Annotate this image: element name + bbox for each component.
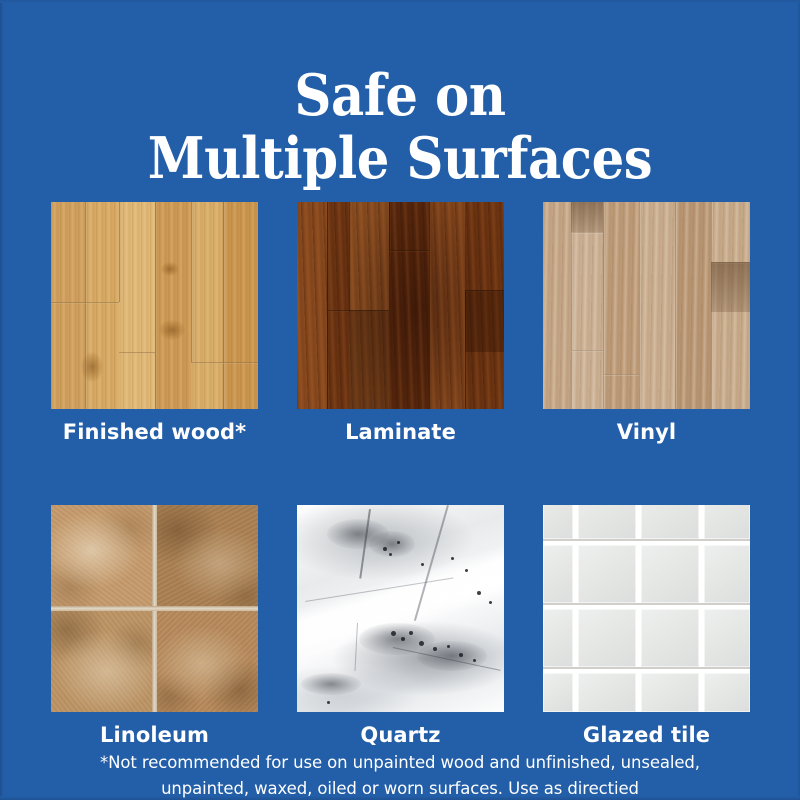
swatch-finished-wood bbox=[51, 202, 258, 409]
surface-label-glazed-tile: Glazed tile bbox=[543, 723, 750, 747]
surface-label-linoleum: Linoleum bbox=[51, 723, 258, 747]
surface-label-laminate: Laminate bbox=[297, 420, 504, 444]
edge-shade-left bbox=[0, 0, 4, 800]
footnote: *Not recommended for use on unpainted wo… bbox=[40, 750, 760, 800]
surface-card-finished-wood: Finished wood* bbox=[51, 202, 258, 444]
swatch-glazed-tile bbox=[543, 505, 750, 712]
surface-card-glazed-tile: Glazed tile bbox=[543, 505, 750, 747]
surface-grid-row: Finished wood* Laminate bbox=[51, 202, 750, 444]
surface-card-quartz: Quartz bbox=[297, 505, 504, 747]
surface-label-quartz: Quartz bbox=[297, 723, 504, 747]
surface-grid: Finished wood* Laminate bbox=[51, 202, 750, 747]
title-line-1: Safe on bbox=[40, 64, 760, 127]
swatch-laminate bbox=[297, 202, 504, 409]
surface-label-finished-wood: Finished wood* bbox=[51, 420, 258, 444]
title-line-2: Multiple Surfaces bbox=[40, 127, 760, 190]
swatch-linoleum bbox=[51, 505, 258, 712]
footnote-line-1: *Not recommended for use on unpainted wo… bbox=[40, 750, 760, 776]
edge-shade-top bbox=[0, 0, 800, 3]
swatch-quartz bbox=[297, 505, 504, 712]
surface-label-vinyl: Vinyl bbox=[543, 420, 750, 444]
page-title: Safe on Multiple Surfaces bbox=[40, 64, 760, 190]
surface-card-laminate: Laminate bbox=[297, 202, 504, 444]
surface-grid-row: Linoleum bbox=[51, 505, 750, 747]
swatch-vinyl bbox=[543, 202, 750, 409]
surface-card-vinyl: Vinyl bbox=[543, 202, 750, 444]
promo-poster: Safe on Multiple Surfaces bbox=[0, 0, 800, 800]
footnote-line-2: unpainted, waxed, oiled or worn surfaces… bbox=[40, 776, 760, 800]
surface-card-linoleum: Linoleum bbox=[51, 505, 258, 747]
